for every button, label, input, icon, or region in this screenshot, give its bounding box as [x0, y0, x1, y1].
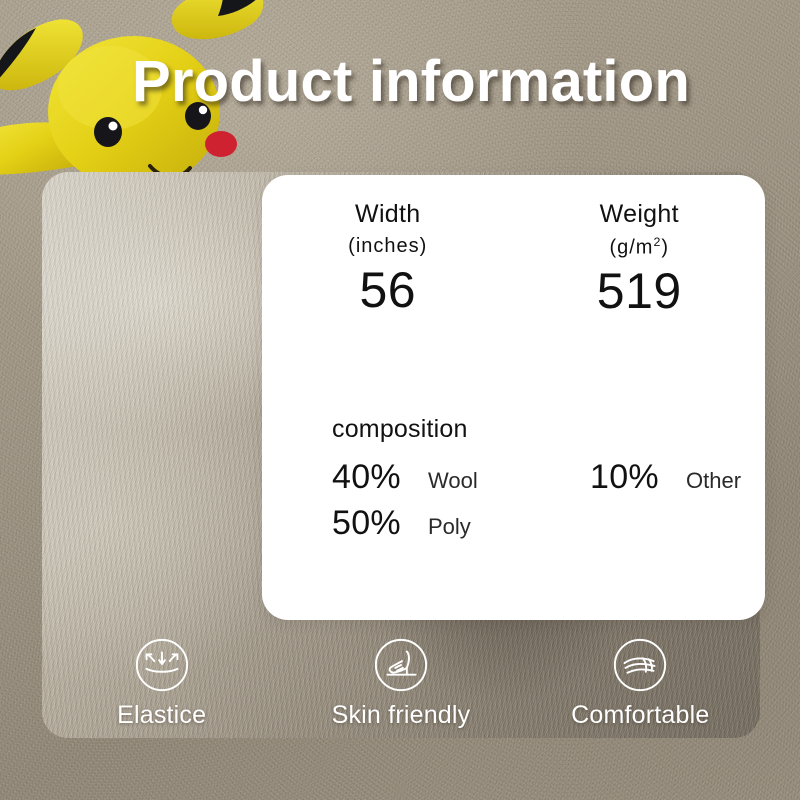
composition-item-other: 10% Other	[590, 458, 741, 504]
spec-weight-unit-close: )	[661, 236, 669, 258]
composition-title: composition	[332, 415, 739, 444]
composition-poly-material: Poly	[428, 514, 471, 540]
spec-weight: Weight (g/m2) 519	[514, 201, 766, 321]
feature-comfortable: Comfortable	[521, 636, 760, 730]
composition-item-poly: 50% Poly	[332, 504, 739, 550]
spec-width-unit-text: inches	[356, 235, 420, 257]
page-title: Product information	[0, 48, 800, 115]
composition-wool-percent: 40%	[332, 458, 420, 497]
spec-weight-value: 519	[514, 263, 766, 321]
hand-touch-icon	[372, 636, 430, 694]
spec-weight-unit-text: g/m	[617, 236, 653, 258]
spec-width: Width (inches) 56	[262, 201, 514, 321]
feature-list: Elastice Skin friendly	[42, 636, 760, 730]
spec-width-value: 56	[262, 262, 514, 320]
feather-icon	[611, 636, 669, 694]
spec-row: Width (inches) 56 Weight (g/m2) 519	[262, 201, 765, 321]
spec-width-unit-open: (	[348, 235, 356, 257]
product-info-banner: Product information Width (inches) 56 We…	[0, 0, 800, 800]
feature-elastice: Elastice	[42, 636, 281, 730]
feature-skin-friendly-label: Skin friendly	[281, 701, 520, 730]
composition-grid: 40% Wool 50% Poly 10% Other	[332, 458, 739, 550]
composition-other-percent: 10%	[590, 458, 678, 497]
spec-width-unit-close: )	[420, 235, 428, 257]
spec-weight-label: Weight	[514, 201, 766, 229]
spec-weight-unit-open: (	[609, 236, 617, 258]
spec-weight-unit: (g/m2)	[514, 235, 766, 260]
feature-comfortable-label: Comfortable	[521, 701, 760, 730]
spec-width-unit: (inches)	[262, 235, 514, 258]
feature-elastice-label: Elastice	[42, 701, 281, 730]
spec-width-label: Width	[262, 201, 514, 229]
stretch-icon	[133, 636, 191, 694]
composition-poly-percent: 50%	[332, 504, 420, 543]
composition-block: composition 40% Wool 50% Poly 10% Other	[332, 415, 739, 550]
product-spec-card: Width (inches) 56 Weight (g/m2) 519 comp…	[262, 175, 765, 620]
composition-other-material: Other	[686, 468, 741, 494]
feature-skin-friendly: Skin friendly	[281, 636, 520, 730]
composition-wool-material: Wool	[428, 468, 478, 494]
